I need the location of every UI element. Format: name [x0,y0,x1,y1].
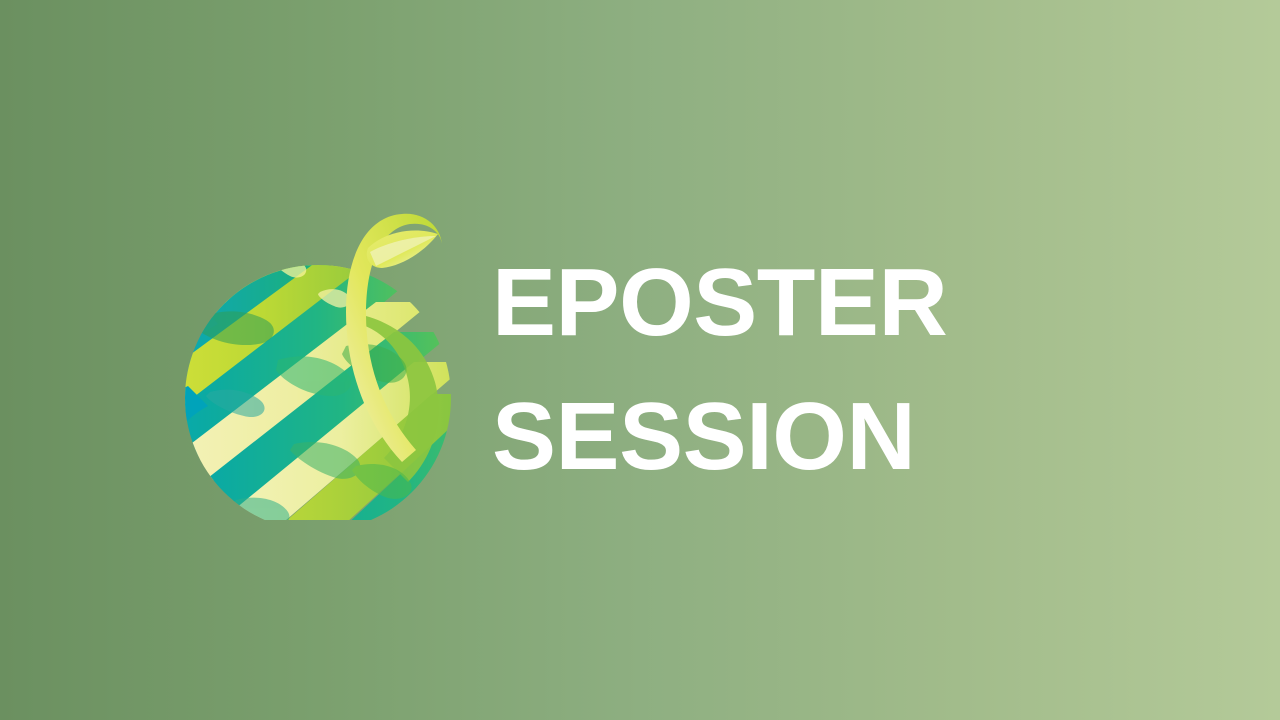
brand-logo [170,200,470,520]
wordmark: EPOSTER SESSION [492,236,1012,504]
wordmark-line-session: SESSION [492,370,1012,504]
wordmark-line-eposter: EPOSTER [492,236,1012,370]
slide-canvas: EPOSTER SESSION [0,0,1280,720]
globe-bands [170,200,470,520]
